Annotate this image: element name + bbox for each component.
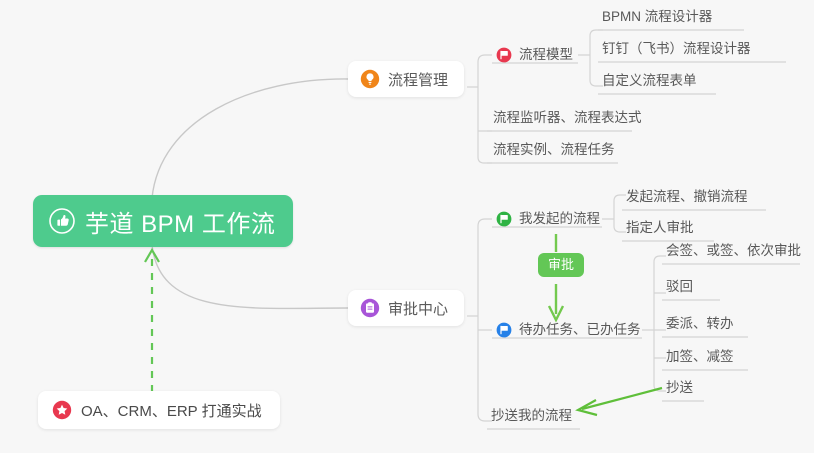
node-my-initiated[interactable]: 我发起的流程 — [492, 205, 604, 233]
node-label-bpmn-designer: BPMN 流程设计器 — [602, 8, 712, 26]
clipboard-icon — [360, 298, 380, 318]
root-label: 芋道 BPM 工作流 — [85, 204, 275, 239]
approval-flow-arrow — [549, 234, 563, 320]
node-label-process-listener: 流程监听器、流程表达式 — [493, 109, 642, 127]
flag-icon — [496, 47, 512, 63]
node-label-custom-form: 自定义流程表单 — [602, 72, 697, 90]
star-icon — [52, 400, 72, 420]
branch-node-process-management[interactable]: 流程管理 — [348, 61, 464, 97]
node-label-start-cancel-process: 发起流程、撤销流程 — [626, 188, 748, 206]
branch-node-approval-center[interactable]: 审批中心 — [348, 290, 464, 326]
node-start-cancel-process[interactable]: 发起流程、撤销流程 — [622, 184, 752, 210]
thumbs-up-icon — [49, 208, 75, 234]
cc-flow-arrow — [578, 388, 662, 415]
node-label-countersign: 会签、或签、依次审批 — [666, 242, 801, 260]
node-label-add-remove-sign: 加签、减签 — [666, 348, 734, 366]
callout-label: OA、CRM、ERP 打通实战 — [81, 400, 262, 421]
node-label-reject: 驳回 — [666, 278, 693, 296]
link-root-to-process-management — [152, 79, 348, 198]
node-label-process-model: 流程模型 — [519, 46, 573, 64]
node-custom-form[interactable]: 自定义流程表单 — [598, 68, 701, 94]
node-label-assignee-approve: 指定人审批 — [626, 219, 694, 237]
node-process-instance[interactable]: 流程实例、流程任务 — [489, 137, 619, 163]
node-label-cc-to-me: 抄送我的流程 — [491, 407, 572, 425]
lightbulb-icon — [360, 69, 380, 89]
node-label-process-instance: 流程实例、流程任务 — [493, 141, 615, 159]
node-label-delegate-transfer: 委派、转办 — [666, 315, 734, 333]
node-delegate-transfer[interactable]: 委派、转办 — [662, 311, 738, 337]
mindmap-canvas: 芋道 BPM 工作流 流程管理 流程模型 BPMN 流程设计器 钉钉（飞书）流程… — [0, 0, 814, 453]
node-cc[interactable]: 抄送 — [662, 375, 697, 401]
node-bpmn-designer[interactable]: BPMN 流程设计器 — [598, 4, 716, 30]
node-process-model[interactable]: 流程模型 — [492, 41, 577, 69]
approval-pill: 审批 — [538, 253, 584, 277]
node-add-remove-sign[interactable]: 加签、减签 — [662, 344, 738, 370]
node-todo-done-tasks[interactable]: 待办任务、已办任务 — [492, 316, 645, 344]
link-approval-center-bracket — [467, 219, 492, 421]
node-cc-to-me[interactable]: 抄送我的流程 — [487, 403, 576, 429]
callout-node-integration[interactable]: OA、CRM、ERP 打通实战 — [38, 391, 280, 429]
root-node[interactable]: 芋道 BPM 工作流 — [33, 195, 293, 247]
flag-icon — [496, 211, 512, 227]
node-process-listener[interactable]: 流程监听器、流程表达式 — [489, 105, 646, 131]
link-root-to-approval-center — [152, 245, 348, 308]
branch-label-process-management: 流程管理 — [388, 69, 448, 90]
branch-label-approval-center: 审批中心 — [388, 298, 448, 319]
node-label-my-initiated: 我发起的流程 — [519, 210, 600, 228]
node-countersign[interactable]: 会签、或签、依次审批 — [662, 238, 805, 264]
node-label-cc: 抄送 — [666, 379, 693, 397]
node-reject[interactable]: 驳回 — [662, 274, 697, 300]
flag-icon — [496, 322, 512, 338]
node-dingtalk-designer[interactable]: 钉钉（飞书）流程设计器 — [598, 36, 755, 62]
approval-pill-label: 审批 — [548, 257, 574, 272]
dashed-callout-arrow — [145, 250, 159, 392]
node-label-dingtalk-designer: 钉钉（飞书）流程设计器 — [602, 40, 751, 58]
node-label-todo-done-tasks: 待办任务、已办任务 — [519, 321, 641, 339]
